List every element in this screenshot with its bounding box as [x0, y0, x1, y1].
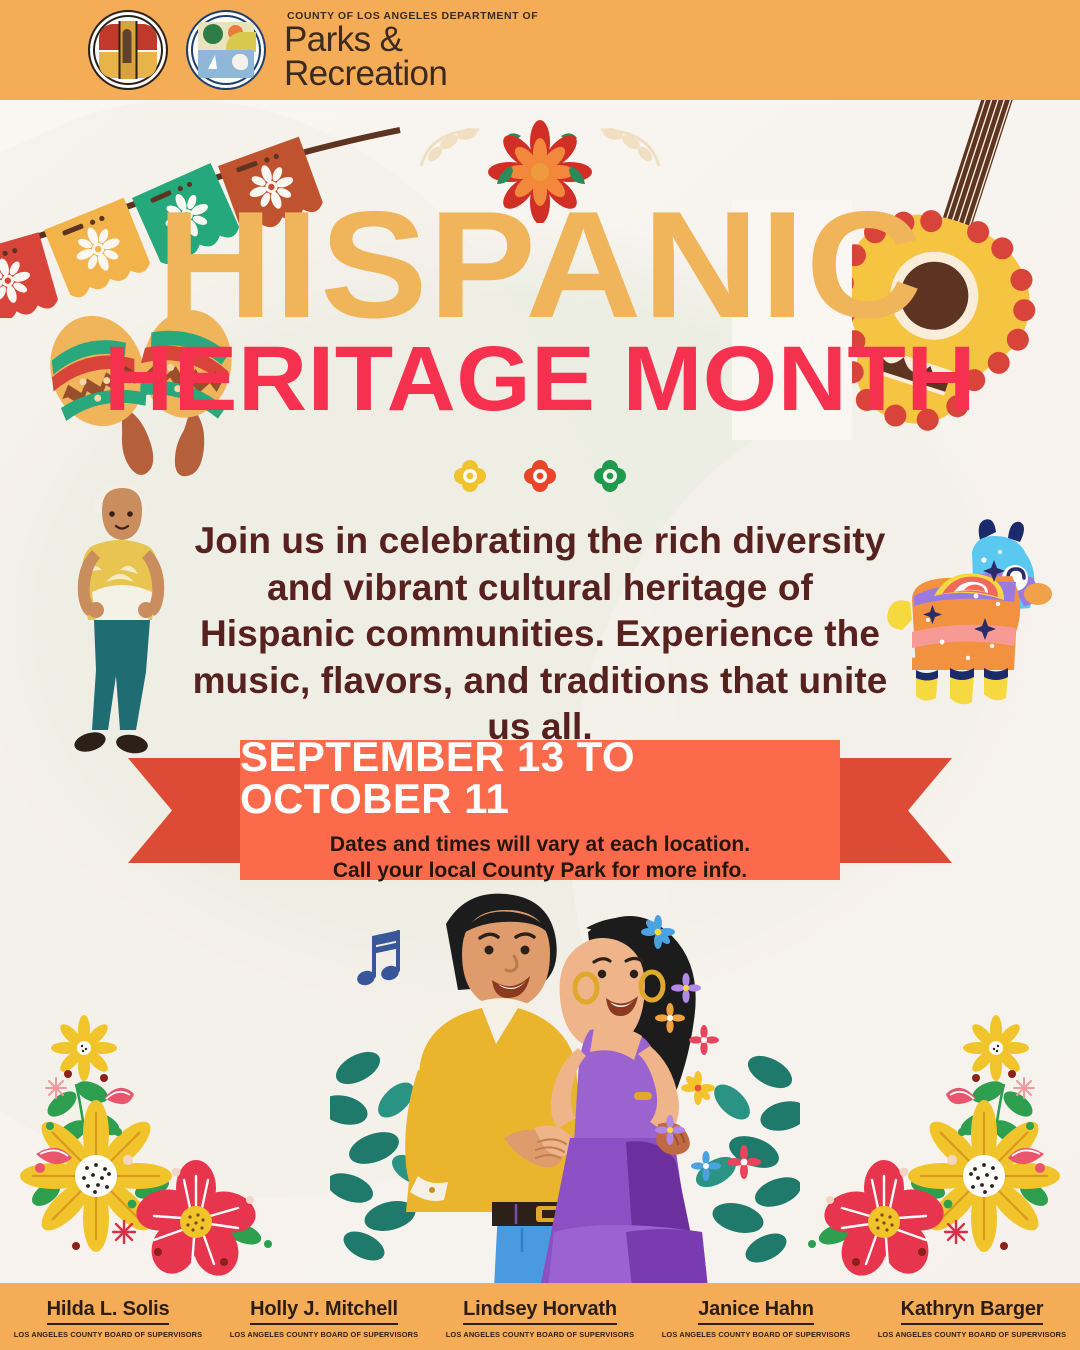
supervisor-item: Lindsey Horvath Los Angeles County Board…	[432, 1294, 648, 1339]
donkey-pinata-illustration	[872, 508, 1072, 708]
description-paragraph: Join us in celebrating the rich diversit…	[190, 518, 890, 751]
dancing-elder-woman-illustration	[62, 474, 182, 754]
supervisor-role: Los Angeles County Board of Supervisors	[216, 1330, 432, 1339]
supervisor-name: Kathryn Barger	[901, 1298, 1044, 1325]
poster-title: HISPANIC HERITAGE MONTH	[0, 200, 1080, 421]
dancing-couple-illustration	[358, 880, 778, 1285]
folk-floral-corner-left	[0, 1008, 300, 1293]
quatrefoil-divider	[0, 458, 1080, 494]
header-title-line-1: Parks &	[284, 23, 538, 57]
supervisor-name: Janice Hahn	[698, 1298, 814, 1325]
date-ribbon: SEPTEMBER 13 TO OCTOBER 11 Dates and tim…	[0, 740, 1080, 885]
supervisor-item: Hilda L. Solis Los Angeles County Board …	[0, 1294, 216, 1339]
ribbon-note-line-1: Dates and times will vary at each locati…	[330, 832, 750, 858]
ribbon-note-line-2: Call your local County Park for more inf…	[330, 858, 750, 884]
county-of-los-angeles-california-seal	[88, 10, 168, 90]
supervisor-item: Kathryn Barger Los Angeles County Board …	[864, 1294, 1080, 1339]
poster-canvas: HISPANIC HERITAGE MONTH Join us in celeb…	[0, 0, 1080, 1350]
quatrefoil-yellow-icon	[452, 458, 488, 494]
supervisor-name: Holly J. Mitchell	[250, 1298, 398, 1325]
supervisor-name: Lindsey Horvath	[463, 1298, 617, 1325]
title-line-heritage-month: HERITAGE MONTH	[0, 337, 1080, 422]
folk-floral-corner-right	[780, 1008, 1080, 1293]
ribbon-center-panel: SEPTEMBER 13 TO OCTOBER 11 Dates and tim…	[240, 740, 840, 880]
supervisor-role: Los Angeles County Board of Supervisors	[432, 1330, 648, 1339]
supervisor-item: Janice Hahn Los Angeles County Board of …	[648, 1294, 864, 1339]
event-date-range: SEPTEMBER 13 TO OCTOBER 11	[240, 736, 840, 820]
supervisor-name: Hilda L. Solis	[47, 1298, 170, 1325]
ribbon-note: Dates and times will vary at each locati…	[330, 832, 750, 885]
floral-flourish-ornament	[415, 118, 665, 223]
quatrefoil-red-icon	[522, 458, 558, 494]
supervisor-item: Holly J. Mitchell Los Angeles County Boa…	[216, 1294, 432, 1339]
header-title-line-2: Recreation	[284, 57, 538, 91]
supervisor-role: Los Angeles County Board of Supervisors	[864, 1330, 1080, 1339]
poster-header-bar: County of Los Angeles Department of Park…	[0, 0, 1080, 100]
supervisor-role: Los Angeles County Board of Supervisors	[648, 1330, 864, 1339]
quatrefoil-green-icon	[592, 458, 628, 494]
board-of-supervisors-footer: Hilda L. Solis Los Angeles County Board …	[0, 1283, 1080, 1350]
supervisor-role: Los Angeles County Board of Supervisors	[0, 1330, 216, 1339]
department-of-parks-and-recreation-seal	[186, 10, 266, 90]
